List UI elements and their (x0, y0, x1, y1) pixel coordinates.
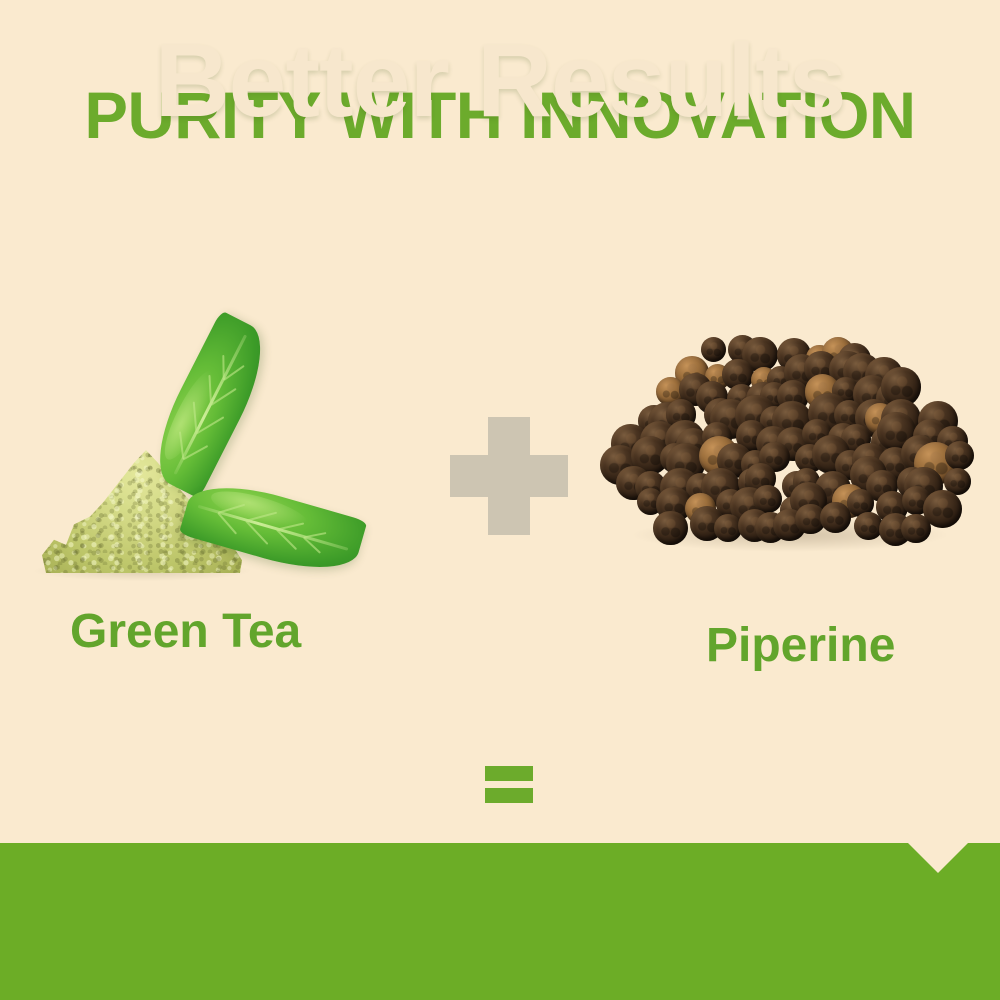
equals-icon (485, 766, 533, 804)
leaf-sheen (156, 364, 225, 465)
result-banner-label: Better Results (0, 29, 1000, 133)
ingredient-label-piperine: Piperine (706, 622, 895, 670)
leaf-vein (223, 355, 225, 380)
equals-icon-bottom-bar (485, 788, 533, 803)
equals-icon-top-bar (485, 766, 533, 781)
plus-icon (450, 417, 568, 535)
leaf-vein (303, 532, 326, 538)
peppercorn-artwork (600, 340, 980, 590)
ingredient-label-green-tea: Green Tea (70, 608, 301, 656)
tea-leaf-upper-icon (140, 310, 280, 499)
peppercorn (901, 514, 931, 544)
plus-icon-vertical-bar (488, 417, 530, 535)
peppercorn (701, 337, 726, 362)
peppercorn (945, 441, 974, 470)
result-banner (0, 843, 1000, 1000)
green-tea-artwork (20, 270, 400, 590)
peppercorn (653, 511, 688, 546)
ingredient-infographic-poster: PURITY WITH INNOVATION (0, 0, 1000, 1000)
peppercorn (820, 502, 851, 533)
